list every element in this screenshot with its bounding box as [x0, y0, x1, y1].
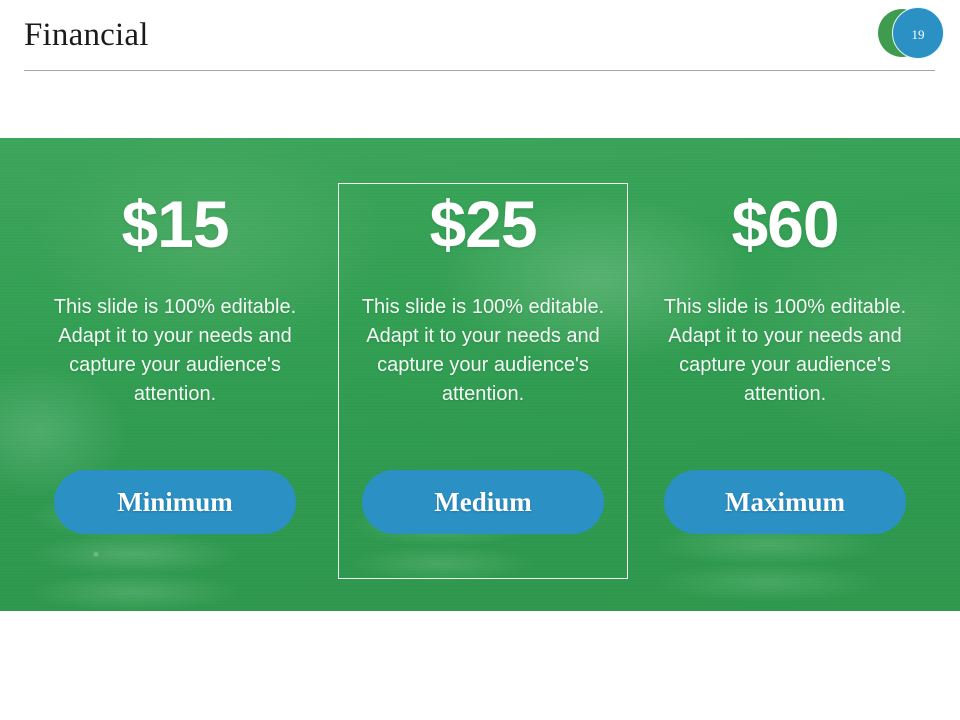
plan-price: $25 [338, 188, 628, 260]
pricing-column-minimum: $15 This slide is 100% editable. Adapt i… [30, 138, 320, 611]
pricing-column-medium: $25 This slide is 100% editable. Adapt i… [338, 138, 628, 611]
slide-footer [0, 611, 960, 720]
plan-description: This slide is 100% editable. Adapt it to… [662, 293, 908, 409]
plan-button-medium[interactable]: Medium [362, 470, 604, 534]
page-title: Financial [24, 14, 149, 56]
plan-button-maximum[interactable]: Maximum [664, 470, 906, 534]
pricing-column-maximum: $60 This slide is 100% editable. Adapt i… [640, 138, 930, 611]
badge-blue-circle-icon: 19 [892, 7, 944, 59]
page-number: 19 [912, 28, 925, 41]
plan-price: $15 [30, 188, 320, 260]
pricing-banner: $15 This slide is 100% editable. Adapt i… [0, 138, 960, 611]
plan-description: This slide is 100% editable. Adapt it to… [360, 293, 606, 409]
plan-description: This slide is 100% editable. Adapt it to… [52, 293, 298, 409]
page-number-badge: 19 [878, 7, 940, 63]
plan-button-minimum[interactable]: Minimum [54, 470, 296, 534]
title-divider [24, 70, 935, 71]
slide-header: Financial 19 [0, 0, 960, 138]
plan-price: $60 [640, 188, 930, 260]
pricing-columns: $15 This slide is 100% editable. Adapt i… [0, 138, 960, 611]
